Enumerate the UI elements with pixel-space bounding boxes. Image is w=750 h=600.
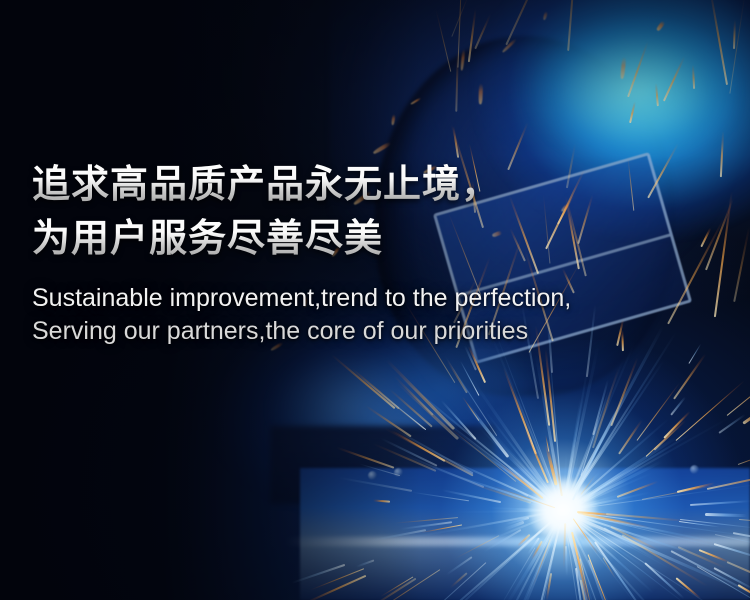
- headline-cn-line-2: 为用户服务尽善尽美: [32, 212, 722, 266]
- headline-copy: 追求高品质产品永无止境， 为用户服务尽善尽美 Sustainable impro…: [32, 158, 722, 348]
- headline-en-line-2: Serving our partners,the core of our pri…: [32, 315, 722, 348]
- headline-cn-line-1: 追求高品质产品永无止境，: [32, 158, 722, 212]
- headline-en-block: Sustainable improvement,trend to the per…: [32, 282, 722, 348]
- hero-banner: 追求高品质产品永无止境， 为用户服务尽善尽美 Sustainable impro…: [0, 0, 750, 600]
- headline-en-line-1: Sustainable improvement,trend to the per…: [32, 282, 722, 315]
